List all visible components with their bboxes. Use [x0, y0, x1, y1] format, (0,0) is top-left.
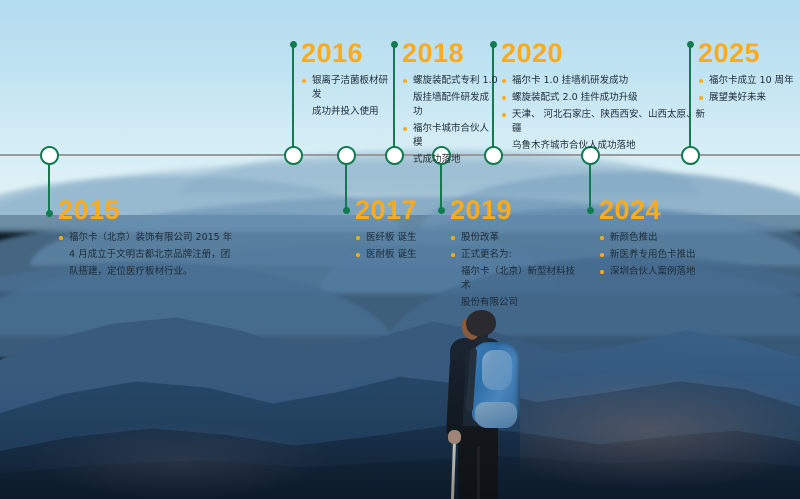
timeline-entry-2020: 2020 福尔卡 1.0 挂墙机研发成功 螺旋装配式 2.0 挂件成功升级 天津… — [501, 40, 711, 156]
hiker-hand — [448, 430, 461, 444]
bullet-item-continued: 4 月成立于文明古都北京品牌注册，团 — [58, 248, 233, 262]
entry-year-2020: 2020 — [501, 40, 711, 67]
bullet-item: 新颜色推出 — [599, 231, 719, 245]
bullet-item: 银离子洁菌板材研发 — [301, 74, 397, 102]
entry-bullets-2017: 医纤板 诞生 医耐板 诞生 — [355, 231, 445, 262]
bullet-item-continued: 队搭建，定位医疗板材行业。 — [58, 265, 233, 279]
bullet-item-continued: 乌鲁木齐城市合伙人成功落地 — [501, 139, 711, 153]
entry-year-2018: 2018 — [402, 40, 498, 67]
entry-bullets-2019: 股份改革 正式更名为: 福尔卡（北京）新型材料技术 股份有限公司 — [450, 231, 580, 310]
bullet-item: 展望美好未来 — [698, 91, 798, 105]
entry-bullets-2025: 福尔卡成立 10 周年 展望美好未来 — [698, 74, 798, 105]
warm-haze-right — [520, 370, 800, 490]
backpack-panel — [482, 350, 512, 390]
entry-year-2024: 2024 — [599, 197, 719, 224]
bullet-item-continued: 版挂墙配件研发成功 — [402, 91, 498, 119]
entry-year-2015: 2015 — [58, 197, 233, 224]
timeline-entry-2019: 2019 股份改革 正式更名为: 福尔卡（北京）新型材料技术 股份有限公司 — [450, 197, 580, 313]
timeline-entry-2017: 2017 医纤板 诞生 医耐板 诞生 — [355, 197, 445, 265]
bullet-item: 医耐板 诞生 — [355, 248, 445, 262]
bullet-item-continued: 成功并投入使用 — [301, 105, 397, 119]
bullet-item: 股份改革 — [450, 231, 580, 245]
hiker-with-backpack — [428, 306, 548, 499]
timeline-entry-2016: 2016 银离子洁菌板材研发 成功并投入使用 — [301, 40, 397, 122]
timeline-node-2017[interactable] — [337, 146, 356, 165]
bullet-item: 福尔卡城市合伙人模 — [402, 122, 498, 150]
timeline-entry-2018: 2018 螺旋装配式专利 1.0 版挂墙配件研发成功 福尔卡城市合伙人模 式成功… — [402, 40, 498, 170]
entry-year-2017: 2017 — [355, 197, 445, 224]
bullet-item: 螺旋装配式 2.0 挂件成功升级 — [501, 91, 711, 105]
bullet-item: 新医养专用色卡推出 — [599, 248, 719, 262]
bullet-item: 福尔卡 1.0 挂墙机研发成功 — [501, 74, 711, 88]
bullet-item-continued: 式成功落地 — [402, 153, 498, 167]
timeline-entry-2024: 2024 新颜色推出 新医养专用色卡推出 深圳合伙人案例落地 — [599, 197, 719, 282]
bullet-item: 深圳合伙人案例落地 — [599, 265, 719, 279]
bullet-item: 天津、 河北石家庄、陕西西安、山西太原、新疆 — [501, 108, 711, 136]
timeline-entry-2025: 2025 福尔卡成立 10 周年 展望美好未来 — [698, 40, 798, 108]
timeline-node-2015[interactable] — [40, 146, 59, 165]
warm-haze-left — [30, 420, 330, 499]
backpack-lower-pocket — [475, 402, 517, 428]
timeline-entry-2015: 2015 福尔卡（北京）装饰有限公司 2015 年 4 月成立于文明古都北京品牌… — [58, 197, 233, 282]
timeline-node-2016[interactable] — [284, 146, 303, 165]
entry-year-2025: 2025 — [698, 40, 798, 67]
entry-bullets-2015: 福尔卡（北京）装饰有限公司 2015 年 4 月成立于文明古都北京品牌注册，团 … — [58, 231, 233, 279]
timeline-infographic: 2015 福尔卡（北京）装饰有限公司 2015 年 4 月成立于文明古都北京品牌… — [0, 0, 800, 499]
entry-bullets-2024: 新颜色推出 新医养专用色卡推出 深圳合伙人案例落地 — [599, 231, 719, 279]
entry-year-2016: 2016 — [301, 40, 397, 67]
entry-bullets-2020: 福尔卡 1.0 挂墙机研发成功 螺旋装配式 2.0 挂件成功升级 天津、 河北石… — [501, 74, 711, 153]
bullet-item: 医纤板 诞生 — [355, 231, 445, 245]
hiking-pole — [451, 436, 456, 499]
hiker-leg-split — [477, 446, 480, 499]
stem-2016 — [292, 44, 294, 154]
bullet-item-continued: 股份有限公司 — [450, 296, 580, 310]
entry-bullets-2018: 螺旋装配式专利 1.0 版挂墙配件研发成功 福尔卡城市合伙人模 式成功落地 — [402, 74, 498, 167]
bullet-item: 螺旋装配式专利 1.0 — [402, 74, 498, 88]
entry-bullets-2016: 银离子洁菌板材研发 成功并投入使用 — [301, 74, 397, 119]
bullet-item: 福尔卡成立 10 周年 — [698, 74, 798, 88]
bullet-item: 正式更名为: — [450, 248, 580, 262]
bullet-item: 福尔卡（北京）装饰有限公司 2015 年 — [58, 231, 233, 245]
entry-year-2019: 2019 — [450, 197, 580, 224]
bullet-item-continued: 福尔卡（北京）新型材料技术 — [450, 265, 580, 293]
